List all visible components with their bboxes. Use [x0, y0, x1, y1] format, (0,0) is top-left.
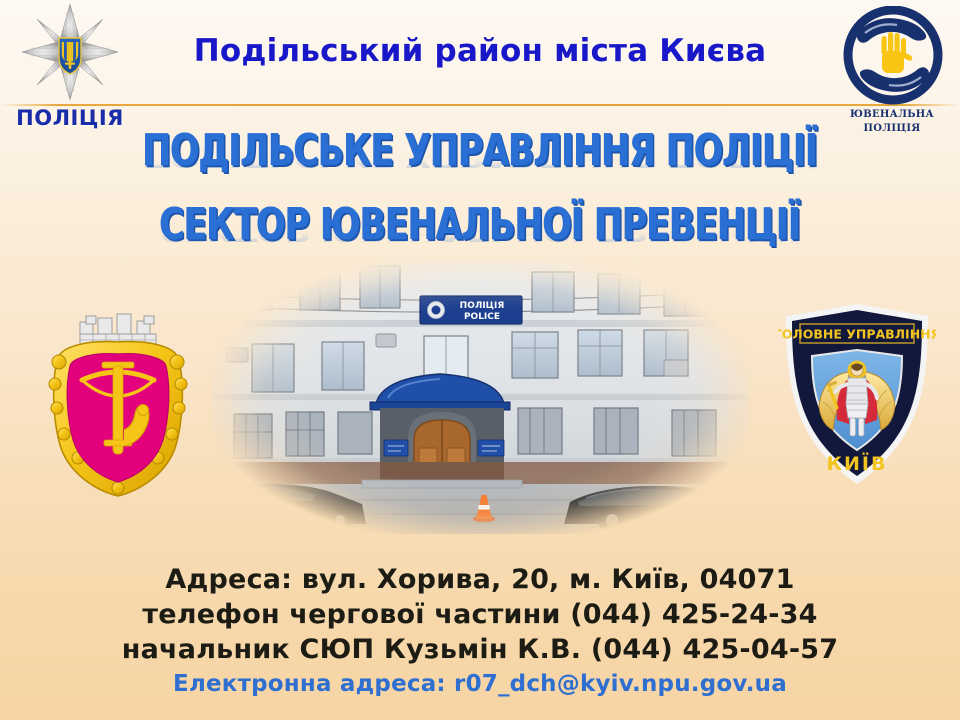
police-sign-line1: ПОЛІЦІЯ: [460, 301, 505, 311]
main-title: ПОДІЛЬСЬКЕ УПРАВЛІННЯ ПОЛІЦІЇ ПОДІЛЬСЬКЕ…: [0, 128, 960, 266]
juvenile-caption-line1: ЮВЕНАЛЬНА: [828, 108, 956, 122]
main-title-line1-block: ПОДІЛЬСЬКЕ УПРАВЛІННЯ ПОЛІЦІЇ ПОДІЛЬСЬКЕ…: [0, 128, 960, 192]
contact-chief: начальник СЮП Кузьмін К.В. (044) 425-04-…: [0, 632, 960, 667]
main-title-line2-reflection: СЕКТОР ЮВЕНАЛЬНОЇ ПРЕВЕНЦІЇ: [106, 233, 855, 244]
police-building-photo: ПОЛІЦІЯ POLICE: [212, 262, 750, 534]
page-title: Подільський район міста Києва: [140, 33, 820, 69]
police-sign-line2: POLICE: [464, 312, 500, 322]
contact-address: Адреса: вул. Хорива, 20, м. Київ, 04071: [0, 562, 960, 597]
main-title-line2-block: СЕКТОР ЮВЕНАЛЬНОЇ ПРЕВЕНЦІЇ СЕКТОР ЮВЕНА…: [0, 202, 960, 266]
header-divider-rule: [0, 104, 960, 106]
kyiv-patch-bottom-label: КИЇВ: [827, 451, 888, 475]
kyiv-patch-top-label: ГОЛОВНЕ УПРАВЛІННЯ: [778, 327, 936, 342]
poster-root: ПОЛІЦІЯ Подільський район міста Києва: [0, 0, 960, 720]
podil-coat-of-arms-icon: [38, 300, 198, 500]
juvenile-police-logo-icon: [834, 6, 952, 106]
police-star-badge-icon: [14, 2, 126, 106]
kyiv-directorate-patch-icon: ГОЛОВНЕ УПРАВЛІННЯ: [778, 300, 936, 490]
contact-duty-phone: телефон чергової частини (044) 425-24-34: [0, 597, 960, 632]
police-sign: ПОЛІЦІЯ POLICE: [420, 296, 522, 324]
contact-info-block: Адреса: вул. Хорива, 20, м. Київ, 04071 …: [0, 562, 960, 700]
police-wordmark: ПОЛІЦІЯ: [8, 106, 132, 130]
contact-email[interactable]: Електронна адреса: r07_dch@kyiv.npu.gov.…: [0, 669, 960, 700]
main-title-line1-reflection: ПОДІЛЬСЬКЕ УПРАВЛІННЯ ПОЛІЦІЇ: [106, 159, 855, 170]
